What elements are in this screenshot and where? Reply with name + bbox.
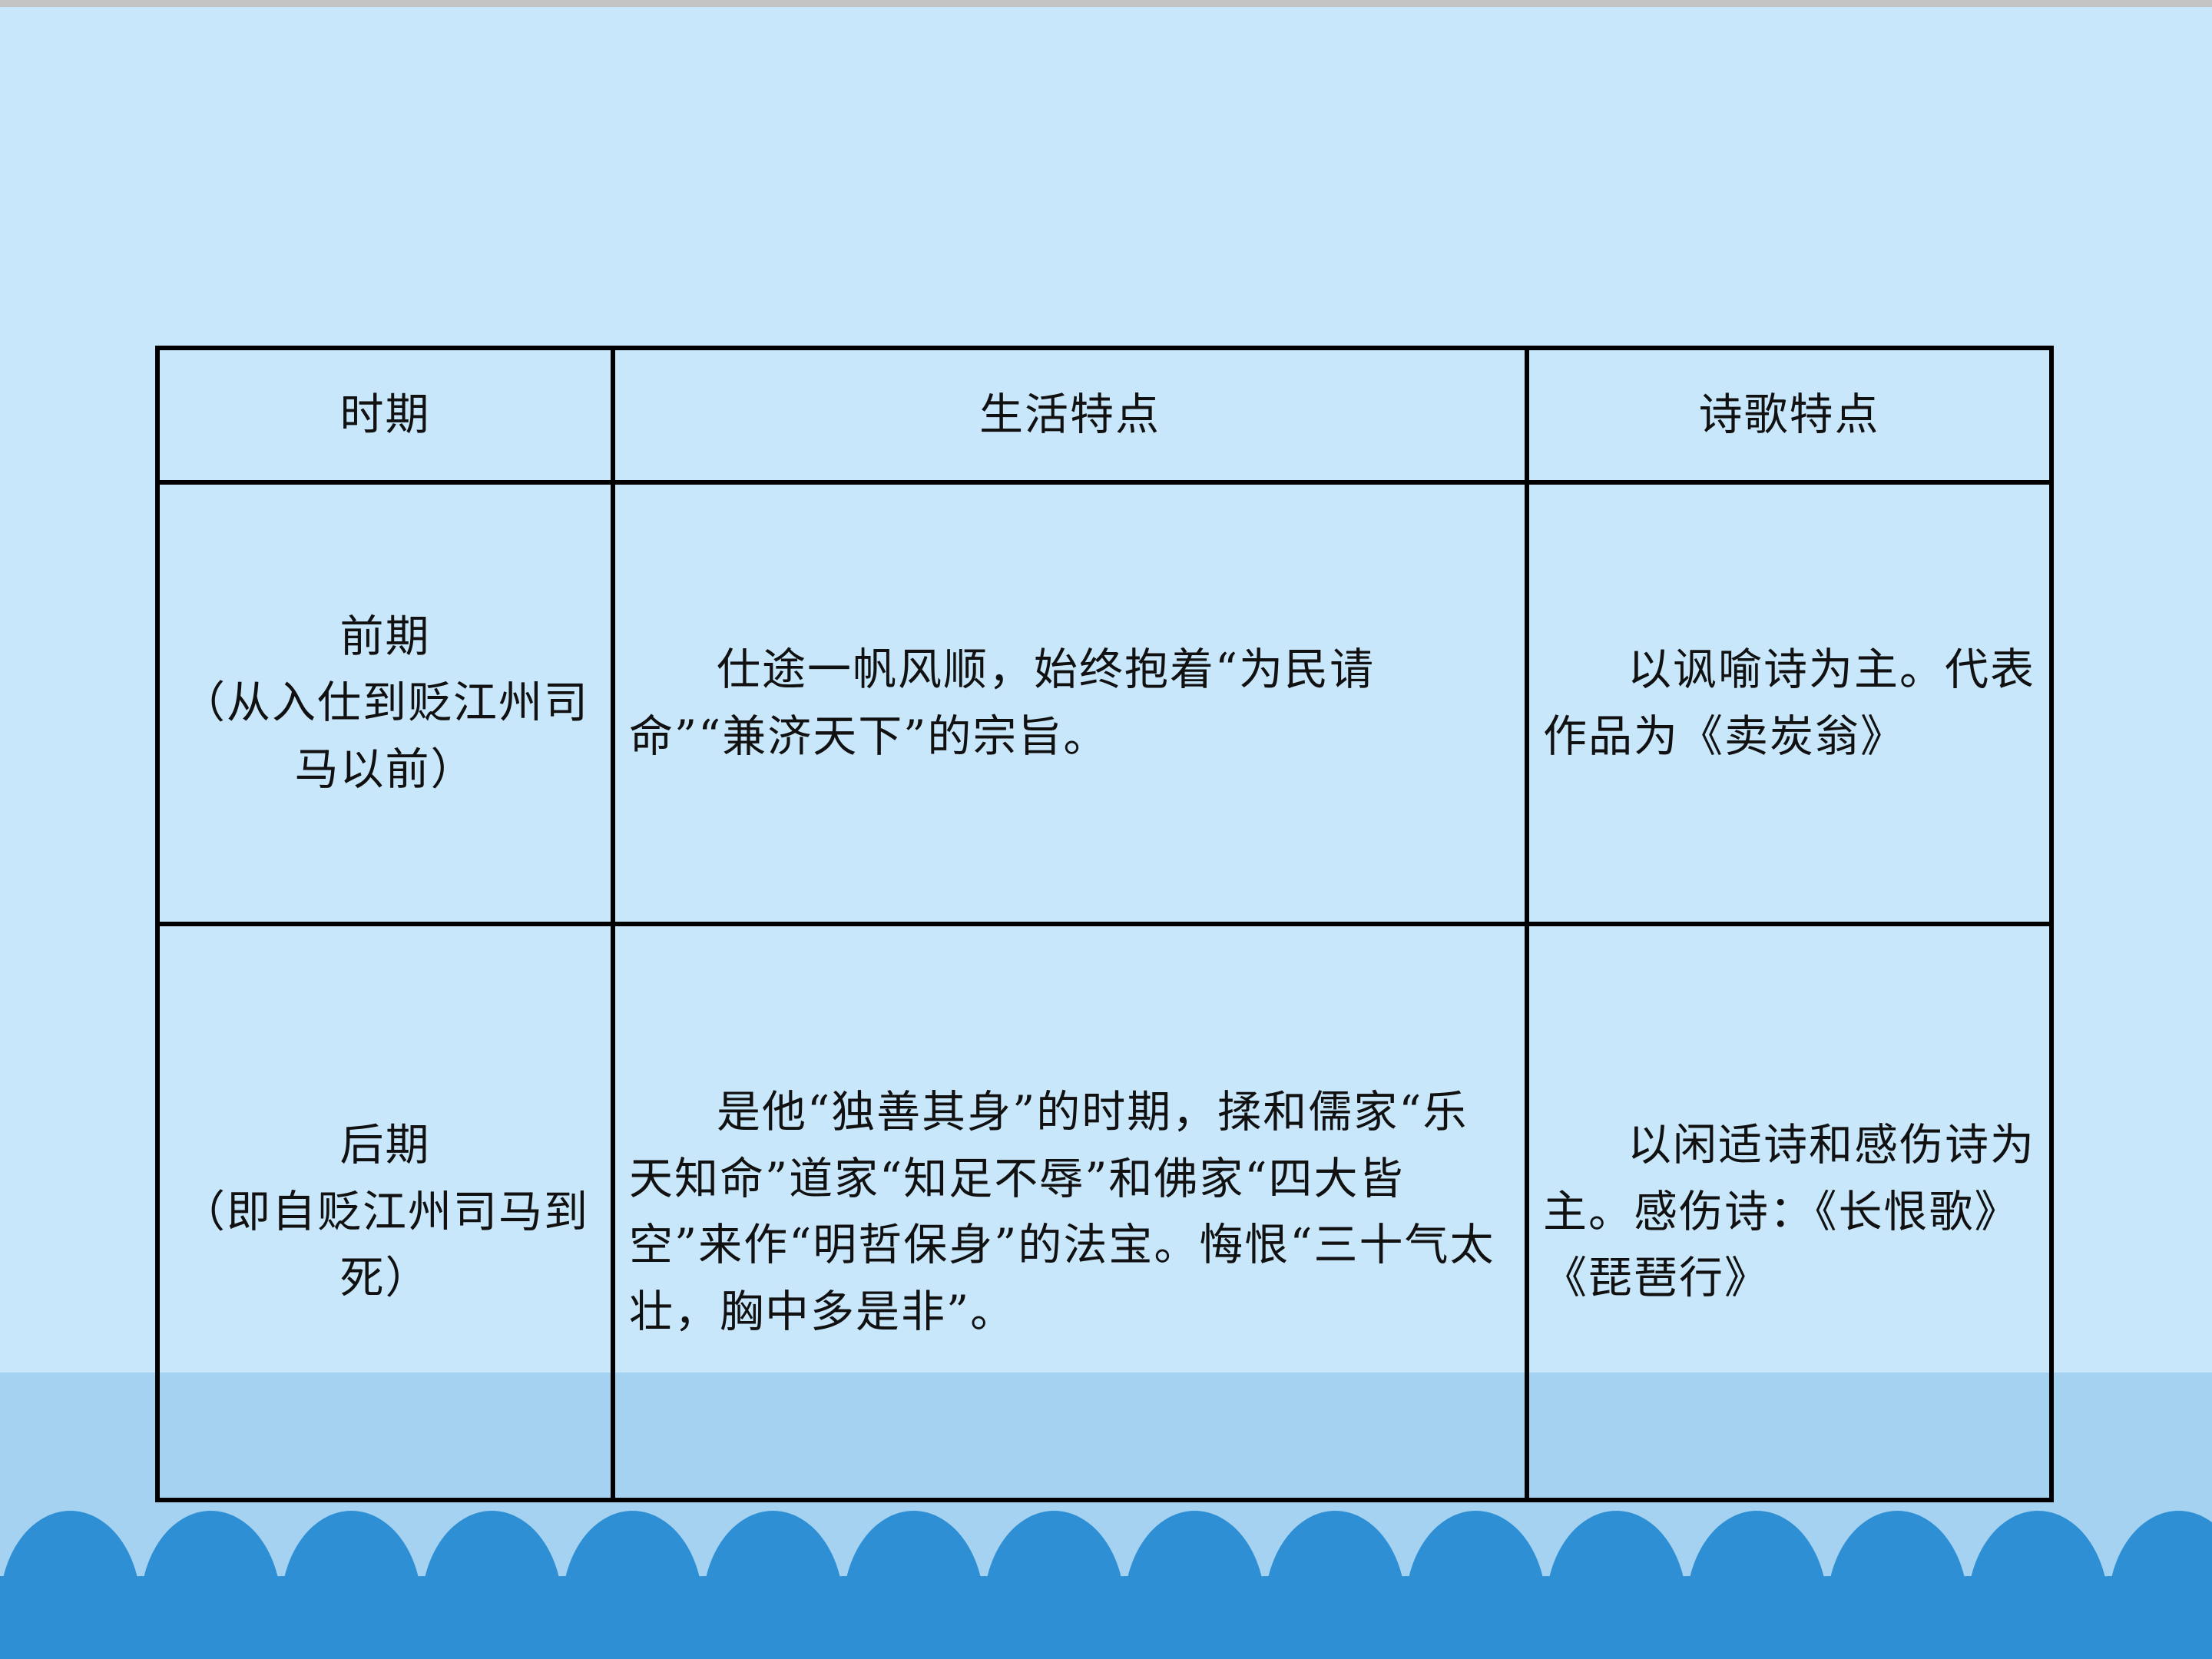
decorative-circle xyxy=(2180,1576,2212,1659)
decorative-circle xyxy=(1477,1576,1618,1659)
table-row: 前期 （从入仕到贬江州司马以前） 仕途一帆风顺，始终抱着“为民请命”“兼济天下”… xyxy=(157,482,2051,924)
decorative-circle xyxy=(212,1576,353,1659)
column-header-period: 时期 xyxy=(157,348,613,482)
decorative-circle xyxy=(353,1576,493,1659)
cell-life-late: 是他“独善其身”的时期，揉和儒家“乐天知命”道家“知足不辱”和佛家“四大皆空”来… xyxy=(613,924,1527,1500)
decorative-circle xyxy=(915,1576,1055,1659)
cell-period-late: 后期 （即自贬江州司马到死） xyxy=(157,924,613,1500)
decorative-circle xyxy=(1618,1576,1758,1659)
cell-period-early: 前期 （从入仕到贬江州司马以前） xyxy=(157,482,613,924)
decorative-circle xyxy=(1899,1576,2039,1659)
cell-poetry-early: 以讽喻诗为主。代表作品为《卖炭翁》 xyxy=(1527,482,2051,924)
decorative-circle xyxy=(1196,1576,1336,1659)
decorative-circle xyxy=(71,1576,212,1659)
decorative-circle xyxy=(493,1576,634,1659)
decorative-circle xyxy=(0,1576,71,1659)
column-header-poetry: 诗歌特点 xyxy=(1527,348,2051,482)
decorative-circle-row-front xyxy=(0,1576,2212,1659)
table-header-row: 时期 生活特点 诗歌特点 xyxy=(157,348,2051,482)
top-gray-strip xyxy=(0,0,2212,7)
decorative-circle xyxy=(2039,1576,2180,1659)
column-header-life: 生活特点 xyxy=(613,348,1527,482)
decorative-circle xyxy=(1055,1576,1196,1659)
cell-poetry-late: 以闲适诗和感伤诗为主。感伤诗：《长恨歌》《琵琶行》 xyxy=(1527,924,2051,1500)
decorative-circle xyxy=(774,1576,915,1659)
decorative-circle xyxy=(1758,1576,1899,1659)
cell-life-early: 仕途一帆风顺，始终抱着“为民请命”“兼济天下”的宗旨。 xyxy=(613,482,1527,924)
table-row: 后期 （即自贬江州司马到死） 是他“独善其身”的时期，揉和儒家“乐天知命”道家“… xyxy=(157,924,2051,1500)
decorative-circle xyxy=(634,1576,774,1659)
poet-periods-table: 时期 生活特点 诗歌特点 前期 （从入仕到贬江州司马以前） 仕途一帆风顺，始终抱… xyxy=(155,346,2054,1502)
decorative-circle xyxy=(1336,1576,1477,1659)
